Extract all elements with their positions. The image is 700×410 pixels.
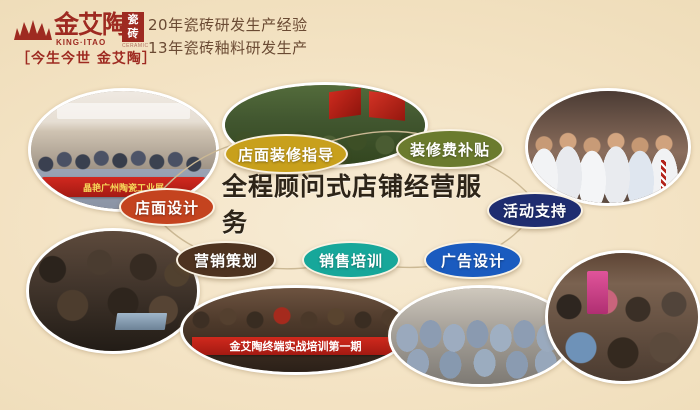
- laptop-crowd-photo: [26, 228, 200, 354]
- tagline-line-2: 13年瓷砖釉料研发生产: [148, 37, 308, 60]
- pill-advertising-design[interactable]: 广告设计: [424, 241, 522, 279]
- page-title: 全程顾问式店铺经营服务: [222, 186, 490, 220]
- executives-indoor-photo: [525, 88, 691, 206]
- photo-training-banner: 金艾陶终端实战培训第一期: [192, 337, 399, 355]
- logo-ceramic-badge: 瓷 砖: [122, 12, 144, 42]
- photo-necktie: [661, 160, 666, 190]
- mountain-crown-icon: [12, 16, 54, 44]
- pill-store-design[interactable]: 店面设计: [119, 188, 215, 226]
- photo-flag-1: [329, 88, 361, 120]
- photo-laptop-screen: [115, 313, 168, 330]
- event-crowd-photo: [545, 250, 700, 384]
- pill-marketing-planning[interactable]: 营销策划: [176, 241, 276, 279]
- photo-backdrop-sign: [57, 103, 190, 120]
- training-banner-text: 金艾陶终端实战培训第一期: [230, 338, 362, 354]
- logo-badge-line2: 砖: [122, 27, 144, 41]
- photo-flag-2: [369, 91, 405, 120]
- logo-badge-line1: 瓷: [122, 13, 144, 27]
- brand-slogan: ［今生今世 金艾陶］: [16, 48, 156, 68]
- brand-logo: 金艾陶 KING·ITAO 瓷 砖 CERAMIC ［今生今世 金艾陶］: [10, 8, 140, 64]
- logo-english-name: KING·ITAO: [56, 38, 106, 47]
- logo-chinese-name: 金艾陶: [54, 12, 126, 38]
- photo-pink-standee: [587, 271, 608, 315]
- promo-banner: 金艾陶 KING·ITAO 瓷 砖 CERAMIC ［今生今世 金艾陶］ 20年…: [0, 0, 700, 410]
- pill-sales-training[interactable]: 销售培训: [302, 241, 400, 279]
- tagline-line-1: 20年瓷砖研发生产经验: [148, 14, 308, 37]
- uniform-group-photo: [388, 285, 574, 387]
- training-group-photo: 金艾陶终端实战培训第一期: [180, 285, 411, 375]
- header: 金艾陶 KING·ITAO 瓷 砖 CERAMIC ［今生今世 金艾陶］ 20年…: [0, 0, 700, 72]
- tagline-block: 20年瓷砖研发生产经验 13年瓷砖釉料研发生产: [148, 14, 308, 60]
- pill-decoration-subsidy[interactable]: 装修费补贴: [396, 129, 504, 169]
- pill-event-support[interactable]: 活动支持: [487, 192, 583, 229]
